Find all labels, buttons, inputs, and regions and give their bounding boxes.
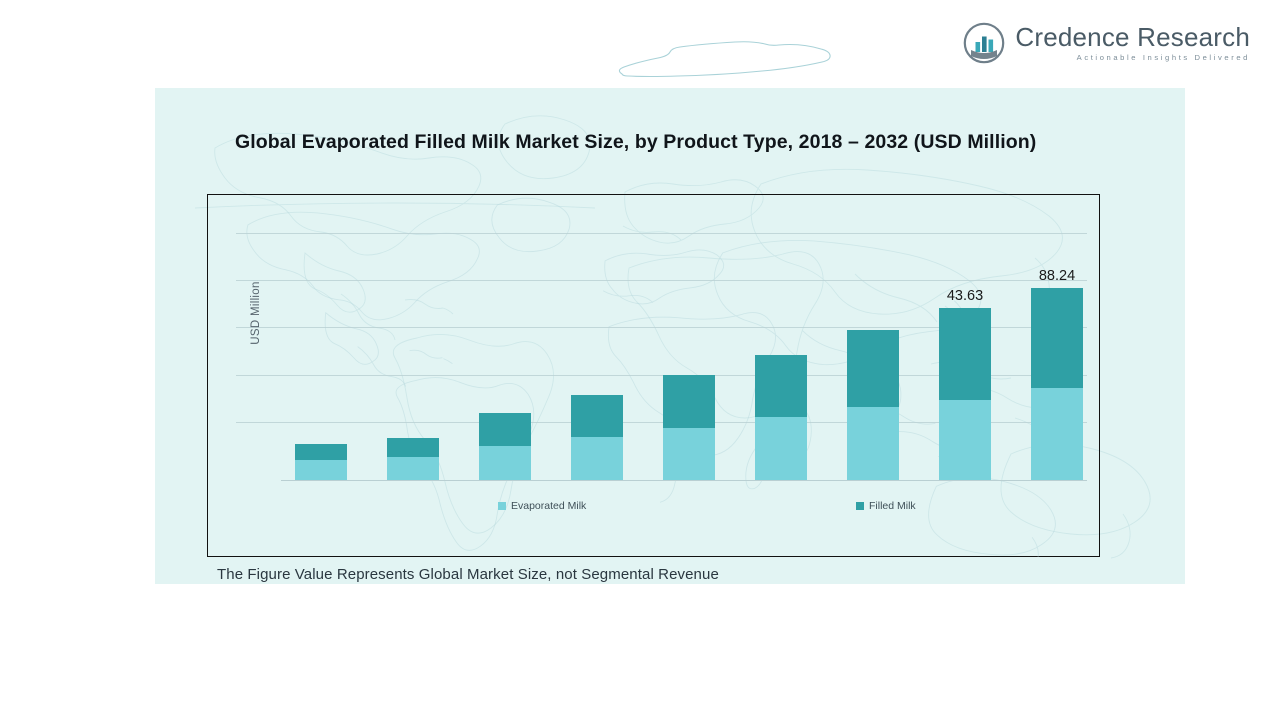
bar-segment-filled-milk[interactable] [755,355,807,417]
bar-segment-filled-milk[interactable] [571,395,623,437]
bar-stack[interactable] [939,308,991,480]
decorative-map-outline-icon [612,28,842,88]
chart-plot-area: USD Million 2018 2019 [207,194,1100,557]
bar-stack[interactable] [479,413,531,480]
chart-title: Global Evaporated Filled Milk Market Siz… [235,131,1036,154]
bar-stack[interactable] [847,330,899,480]
chart-footnote: The Figure Value Represents Global Marke… [217,566,719,583]
bar-stack[interactable] [663,375,715,480]
legend-label: Evaporated Milk [511,500,586,512]
bar-value-label-2032: 88.24 [1039,268,1075,284]
y-axis-label: USD Million [250,253,262,373]
bars-container: 2018 2019 2020 [281,203,1089,480]
bar-stack[interactable] [571,395,623,480]
legend-label: Filled Milk [869,500,916,512]
legend-item-filled-milk[interactable]: Filled Milk [856,500,916,512]
bar-chart-circle-icon [963,22,1005,64]
bar-segment-evaporated-milk[interactable] [571,437,623,480]
chart-legend: Evaporated Milk Filled Milk [208,500,1099,520]
bar-segment-filled-milk[interactable] [479,413,531,446]
brand-tagline: Actionable Insights Delivered [1015,54,1250,62]
bar-segment-evaporated-milk[interactable] [755,417,807,480]
legend-swatch-icon [856,502,864,510]
legend-item-evaporated-milk[interactable]: Evaporated Milk [498,500,586,512]
bar-segment-filled-milk[interactable] [1031,288,1083,388]
bar-segment-filled-milk[interactable] [939,308,991,400]
bar-segment-evaporated-milk[interactable] [1031,388,1083,480]
bar-stack[interactable] [295,444,347,480]
bar-segment-evaporated-milk[interactable] [939,400,991,480]
bar-segment-evaporated-milk[interactable] [387,457,439,480]
bar-segment-evaporated-milk[interactable] [847,407,899,480]
bar-segment-evaporated-milk[interactable] [663,428,715,480]
bar-segment-evaporated-milk[interactable] [295,460,347,480]
brand-name: Credence Research [1015,24,1250,50]
brand-logo: Credence Research Actionable Insights De… [963,22,1250,64]
bar-segment-filled-milk[interactable] [847,330,899,407]
legend-swatch-icon [498,502,506,510]
bar-stack[interactable] [755,355,807,480]
chart-panel: Global Evaporated Filled Milk Market Siz… [155,88,1185,584]
bar-segment-filled-milk[interactable] [663,375,715,428]
page-root: Credence Research Actionable Insights De… [0,0,1280,720]
bar-segment-evaporated-milk[interactable] [479,446,531,480]
bar-stack[interactable] [387,438,439,480]
bar-segment-filled-milk[interactable] [387,438,439,457]
bar-stack[interactable] [1031,288,1083,480]
brand-text: Credence Research Actionable Insights De… [1015,24,1250,62]
bar-segment-filled-milk[interactable] [295,444,347,460]
x-axis-line [281,480,1087,481]
bar-value-label-2025: 43.63 [947,288,983,304]
